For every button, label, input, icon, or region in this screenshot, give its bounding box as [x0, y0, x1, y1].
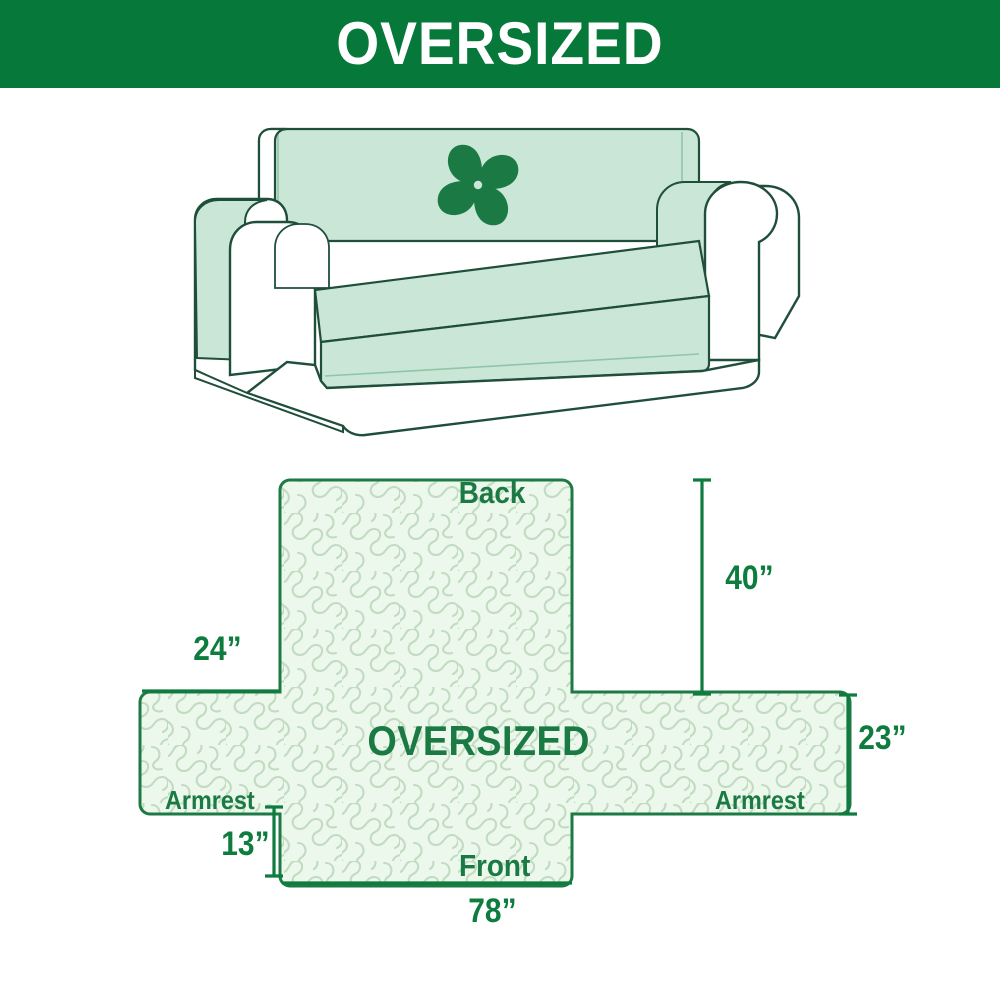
- dimension-label-back-height: 40”: [725, 559, 773, 598]
- header-banner: OVERSIZED: [0, 0, 1000, 88]
- panel-label-front: Front: [459, 848, 530, 884]
- sofa-left-arm-inner-panel: [275, 224, 329, 288]
- dimension-label-armrest-width: 24”: [193, 630, 241, 669]
- oversized-sofa-cover-infographic: OVERSIZED: [0, 0, 1000, 1000]
- dimension-label-total-width: 78”: [468, 892, 516, 931]
- fan-pinwheel-icon: [438, 145, 519, 226]
- page-title: OVERSIZED: [336, 14, 663, 74]
- panel-label-armrest-left: Armrest: [165, 785, 255, 816]
- fabric-quilted-surface: [110, 455, 1000, 945]
- cover-pattern-diagram: Back OVERSIZED Armrest Armrest Front 40”…: [110, 455, 1000, 945]
- dimension-line-back-height: [693, 480, 711, 694]
- panel-label-armrest-right: Armrest: [715, 785, 805, 816]
- panel-label-back: Back: [459, 475, 526, 511]
- dimension-label-front-drop: 13”: [221, 825, 269, 864]
- sofa-illustration: [175, 110, 825, 455]
- panel-label-center: OVERSIZED: [367, 717, 589, 765]
- dimension-label-armrest-height: 23”: [858, 719, 906, 758]
- cover-pattern-svg: [110, 455, 1000, 945]
- sofa-line-drawing-svg: [175, 110, 825, 455]
